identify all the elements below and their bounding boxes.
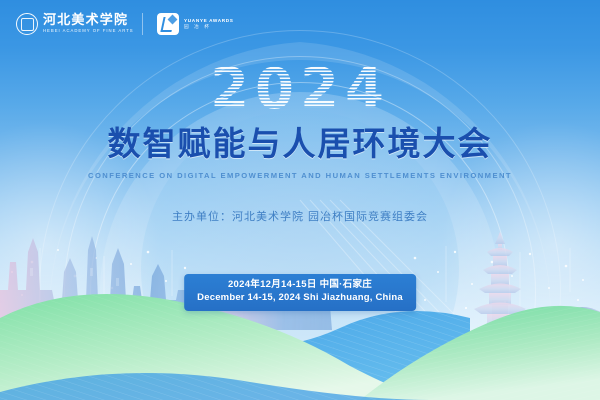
logo-yuanye-cn: 园 冶 杯	[184, 24, 234, 30]
logo-hebei-academy[interactable]: 河北美术学院 HEBEI ACADEMY OF FINE ARTS	[16, 13, 128, 35]
date-badge: 2024年12月14-15日 中国·石家庄 December 14-15, 20…	[184, 274, 416, 311]
logo-yuanye-cup[interactable]: YUANYE AWARDS 园 冶 杯	[157, 13, 222, 35]
hill-blue	[0, 311, 470, 400]
circle-seal-icon	[16, 13, 38, 35]
logo-hebei-en: HEBEI ACADEMY OF FINE ARTS	[43, 30, 150, 34]
logo-yuanye-en: YUANYE AWARDS	[184, 18, 234, 24]
chinese-gate-archway	[528, 307, 600, 366]
square-badge-icon	[157, 13, 179, 35]
logo-bar: 河北美术学院 HEBEI ACADEMY OF FINE ARTS YUANYE…	[16, 13, 222, 35]
date-en: December 14-15, 2024 Shi Jiazhuang, Chin…	[197, 292, 403, 305]
hill-green-right	[360, 306, 600, 400]
logo-hebei-cn: 河北美术学院	[43, 14, 128, 27]
organizer-line: 主办单位：河北美术学院 园冶杯国际竞赛组委会	[0, 208, 600, 224]
pagoda-tower	[468, 232, 532, 353]
year-block: 2024	[0, 57, 600, 122]
hill-blue-front	[0, 373, 430, 400]
page-title: 数智赋能与人居环境大会	[0, 126, 600, 162]
conference-poster: 河北美术学院 HEBEI ACADEMY OF FINE ARTS YUANYE…	[0, 0, 600, 400]
title-block: 数智赋能与人居环境大会 CONFERENCE ON DIGITAL EMPOWE…	[0, 126, 600, 180]
page-subtitle: CONFERENCE ON DIGITAL EMPOWERMENT AND HU…	[0, 171, 600, 180]
hill-teal	[330, 332, 600, 400]
year-2024: 2024	[210, 57, 390, 122]
date-cn: 2024年12月14-15日 中国·石家庄	[197, 279, 403, 292]
